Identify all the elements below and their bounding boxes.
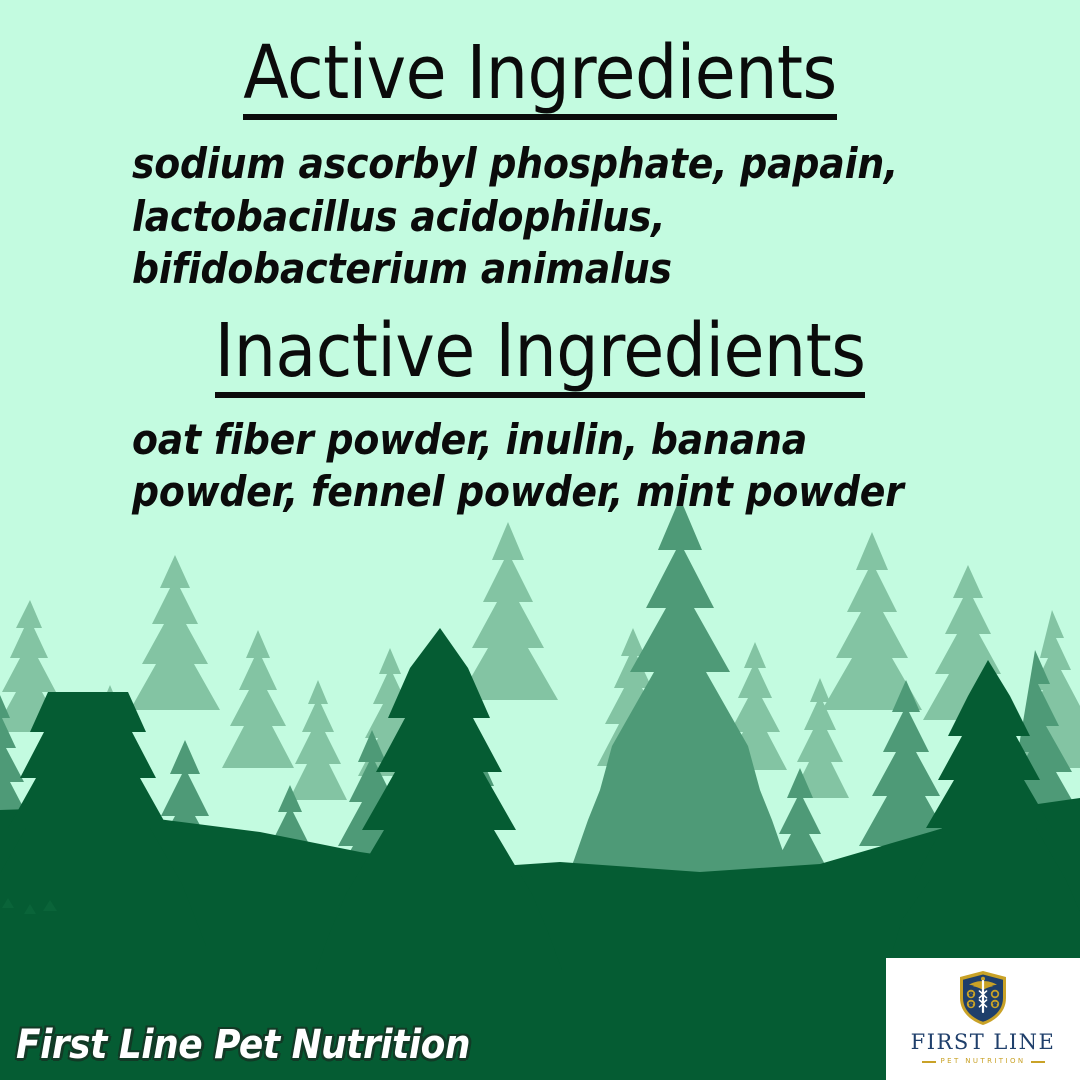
ingredients-text-block: Active Ingredients sodium ascorbyl phosp… [0,0,1080,519]
active-ingredients-list: sodium ascorbyl phosphate, papain, lacto… [0,120,1080,296]
logo-wordmark: FIRST LINE [911,1032,1056,1053]
heading-inactive-ingredients: Inactive Ingredients [0,296,1080,398]
brand-watermark: First Line Pet Nutrition [16,1022,470,1068]
heading-active-ingredients-text: Active Ingredients [243,36,836,120]
logo-dash-right [1031,1061,1045,1063]
brand-logo-card: FIRST LINE PET NUTRITION [886,958,1080,1080]
inactive-ingredients-list: oat fiber powder, inulin, banana powder,… [0,398,1080,519]
ingredients-poster: Active Ingredients sodium ascorbyl phosp… [0,0,1080,1080]
logo-subtitle-row: PET NUTRITION [922,1058,1045,1065]
heading-active-ingredients: Active Ingredients [0,0,1080,120]
heading-inactive-ingredients-text: Inactive Ingredients [215,314,866,398]
logo-subtitle: PET NUTRITION [941,1058,1026,1065]
shield-caduceus-paw-icon [957,970,1009,1026]
logo-dash-left [922,1061,936,1063]
